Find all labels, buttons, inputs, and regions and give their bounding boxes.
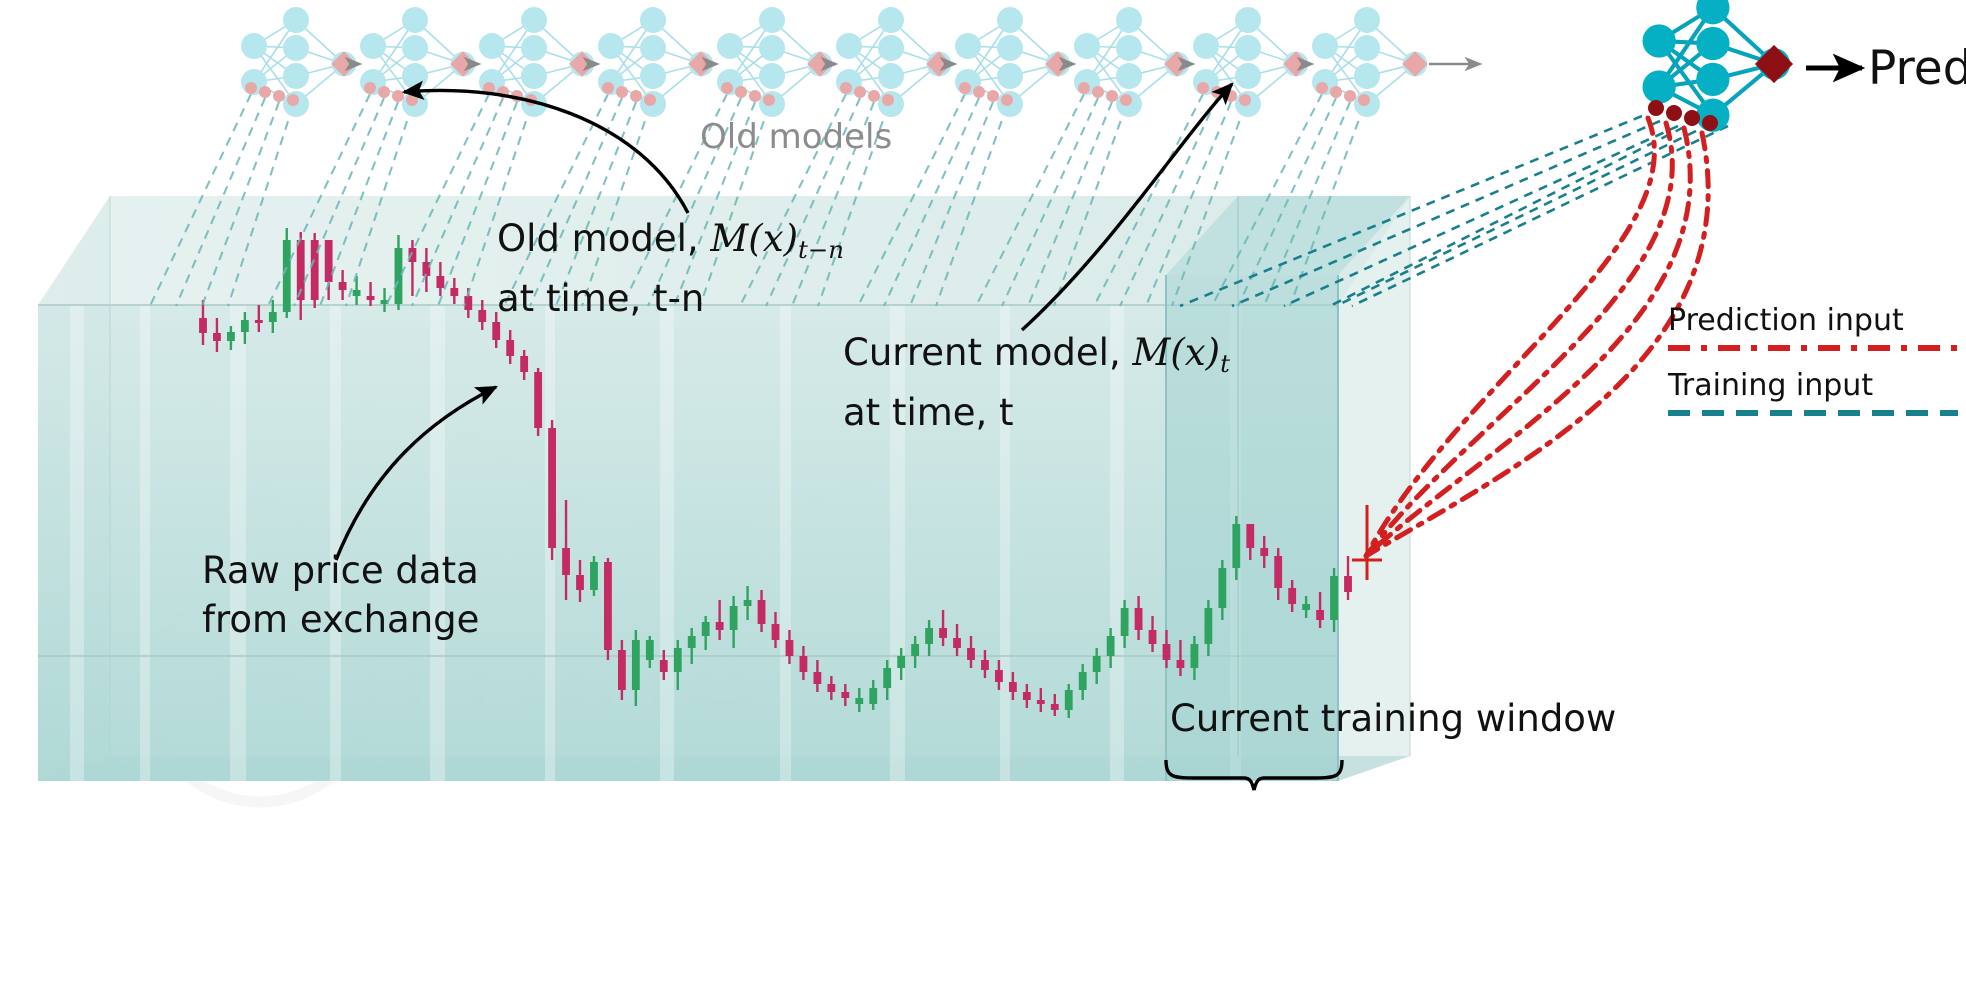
nn-input-dot [840,82,852,94]
nn-node [1642,70,1675,103]
nn-node [283,7,309,33]
annotation-old-model-subscript: t−n [798,235,844,264]
annotation-old-model-line1-pre: Old model, [497,217,710,260]
candle-body [241,320,249,332]
annotation-raw-line2: from exchange [202,595,479,644]
candle-body [869,688,877,704]
candle-body [1009,682,1017,692]
annotation-old-model: Old model, M(x)t−n at time, t-n [497,214,844,323]
nn-node [1074,33,1100,59]
nn-node [521,35,547,61]
nn-node [759,63,785,89]
nn-input-dot [721,82,733,94]
candle-body [827,684,835,692]
candle-body [702,622,710,636]
nn-input-dot [854,86,866,98]
candle-body [911,644,919,656]
candle-body [367,296,375,300]
nn-node [1116,35,1142,61]
nn-node [1642,24,1675,57]
candle-body [353,290,361,296]
candle-body [1023,692,1031,700]
current-training-window-label: Current training window [1170,697,1616,740]
nn-node [640,7,666,33]
candle-body [897,656,905,668]
candle-body [744,600,752,606]
annotation-old-model-line2: at time, t-n [497,274,844,323]
candle-body [450,288,458,296]
candle-body [548,428,556,548]
prediction-line [1366,123,1672,556]
candle-body [1149,630,1157,644]
nn-node [598,33,624,59]
candle-body [325,240,333,282]
diagram-canvas: B FreqAI [0,0,1966,981]
nn-input-dot [1120,94,1132,106]
nn-input-dot [287,94,299,106]
candle-body [436,276,444,288]
candle-body [1330,576,1338,620]
nn-input-dot [392,90,404,102]
candle-body [492,322,500,340]
nn-current-input-dot [1684,110,1700,126]
nn-input-dot [1092,86,1104,98]
candle-body [855,698,863,704]
candle-body [1302,604,1310,610]
nn-input-dot [378,86,390,98]
prediction-label: Prediction [1868,41,1966,96]
annotation-raw-line1: Raw price data [202,546,479,595]
candle-body [1218,568,1226,608]
annotation-current-model-subscript: t [1220,349,1230,378]
candle-body [1135,608,1143,630]
nn-node [878,63,904,89]
nn-node [1354,63,1380,89]
candle-body [1232,524,1240,568]
candle-body [422,262,430,276]
candle-body [772,624,780,640]
nn-node [402,35,428,61]
prediction-input-lines [1366,118,1708,556]
nn-node [640,63,666,89]
candle-body [716,622,724,630]
annotation-current-model: Current model, M(x)t at time, t [843,328,1230,437]
candle-body [1260,548,1268,556]
candle-body [590,562,598,590]
nn-input-dot [273,90,285,102]
candle-body [1051,704,1059,710]
candle-body [967,648,975,660]
nn-node [402,7,428,33]
candle-body [1177,660,1185,668]
nn-node [997,63,1023,89]
candle-body [813,672,821,684]
candle-body [1093,656,1101,672]
nn-current-input-dot [1648,100,1664,116]
candle-body [660,660,668,672]
nn-input-dot [973,86,985,98]
nn-input-dot [882,94,894,106]
nn-node [997,35,1023,61]
nn-node [360,33,386,59]
nn-input-dot [868,90,880,102]
annotation-current-model-line2: at time, t [843,388,1230,437]
candle-body [604,562,612,650]
candle-body [506,340,514,356]
candle-body [213,333,221,341]
nn-input-dot [735,86,747,98]
nn-node [1193,33,1219,59]
candle-body [674,648,682,672]
candle-body [255,320,263,323]
candle-body [786,640,794,656]
nn-node [836,33,862,59]
candle-body [534,372,542,428]
candle-body [995,670,1003,682]
candle-body [199,318,207,333]
annotation-old-model-math: M(x) [710,217,798,260]
nn-node [759,35,785,61]
nn-input-dot [406,94,418,106]
candle-body [632,640,640,690]
model-chain [241,0,1791,132]
candle-body [311,240,319,300]
candle-body [562,548,570,575]
nn-node [878,7,904,33]
nn-node [997,7,1023,33]
candle-body [1065,690,1073,710]
nn-node [1116,7,1142,33]
nn-node [640,35,666,61]
candle-body [1344,576,1352,592]
candle-body [1191,644,1199,668]
candle-body [520,356,528,372]
nn-input-dot [1106,90,1118,102]
nn-node [759,7,785,33]
nn-input-dot [1344,90,1356,102]
candle-body [1037,700,1045,704]
nn-node [283,63,309,89]
nn-input-dot [1330,86,1342,98]
candle-body [1274,556,1282,588]
nn-input-dot [987,90,999,102]
candle-body [730,606,738,630]
candle-body [227,332,235,341]
nn-input-dot [1078,82,1090,94]
candle-body [883,668,891,688]
legend-item-prediction-input: Prediction input [1668,303,1904,338]
candle-body [758,600,766,624]
candle-body [925,628,933,644]
candle-body [269,312,277,322]
candle-body [981,660,989,670]
nn-input-dot [749,90,761,102]
candle-body [939,628,947,638]
nn-node [1235,35,1261,61]
candle-body [688,636,696,648]
candle-body [464,296,472,310]
nn-node [521,7,547,33]
nn-input-dot [1197,82,1209,94]
candle-body [1079,672,1087,690]
candle-body [283,240,291,312]
nn-node [878,35,904,61]
candle-body [953,638,961,648]
figure-root: B FreqAI [0,0,1966,981]
nn-input-dot [259,86,271,98]
candle-body [841,692,849,698]
nn-input-dot [763,94,775,106]
candle-body [576,575,584,590]
candle-body [395,248,403,304]
nn-input-dot [1001,94,1013,106]
nn-node [1235,7,1261,33]
nn-node [402,63,428,89]
candle-body [1204,608,1212,644]
annotation-current-model-math: M(x) [1132,331,1220,374]
nn-input-dot [245,82,257,94]
nn-input-dot [959,82,971,94]
nn-node [1354,35,1380,61]
nn-node [717,33,743,59]
candle-body [478,310,486,322]
candle-body [1121,608,1129,636]
candle-body [1288,588,1296,604]
nn-input-dot [364,82,376,94]
candle-body [646,640,654,660]
nn-node [1116,63,1142,89]
candle-body [1107,636,1115,656]
nn-current-input-dot [1666,105,1682,121]
candle-body [339,282,347,290]
candle-body [800,656,808,672]
nn-node [1235,63,1261,89]
nn-input-dot [644,94,656,106]
nn-node [955,33,981,59]
candle-body [1163,644,1171,660]
nn-node [479,33,505,59]
annotation-raw-price-data: Raw price data from exchange [202,546,479,644]
nn-node [1354,7,1380,33]
nn-node [1696,63,1729,96]
legend-item-training-input: Training input [1668,368,1873,403]
nn-input-dot [1358,94,1370,106]
nn-node [1312,33,1338,59]
prediction-line [1366,128,1690,556]
candle-body [1246,524,1254,548]
nn-node [283,35,309,61]
nn-input-dot [1316,82,1328,94]
old-models-label: Old models [700,117,892,157]
nn-input-dot [616,86,628,98]
nn-input-dot [630,90,642,102]
nn-node [1696,27,1729,60]
nn-input-dot [1239,94,1251,106]
nn-current-input-dot [1702,115,1718,131]
nn-node [241,33,267,59]
candle-body [1316,610,1324,620]
annotation-current-model-line1-pre: Current model, [843,331,1132,374]
nn-node [521,63,547,89]
candle-body [618,650,626,690]
nn-input-dot [602,82,614,94]
